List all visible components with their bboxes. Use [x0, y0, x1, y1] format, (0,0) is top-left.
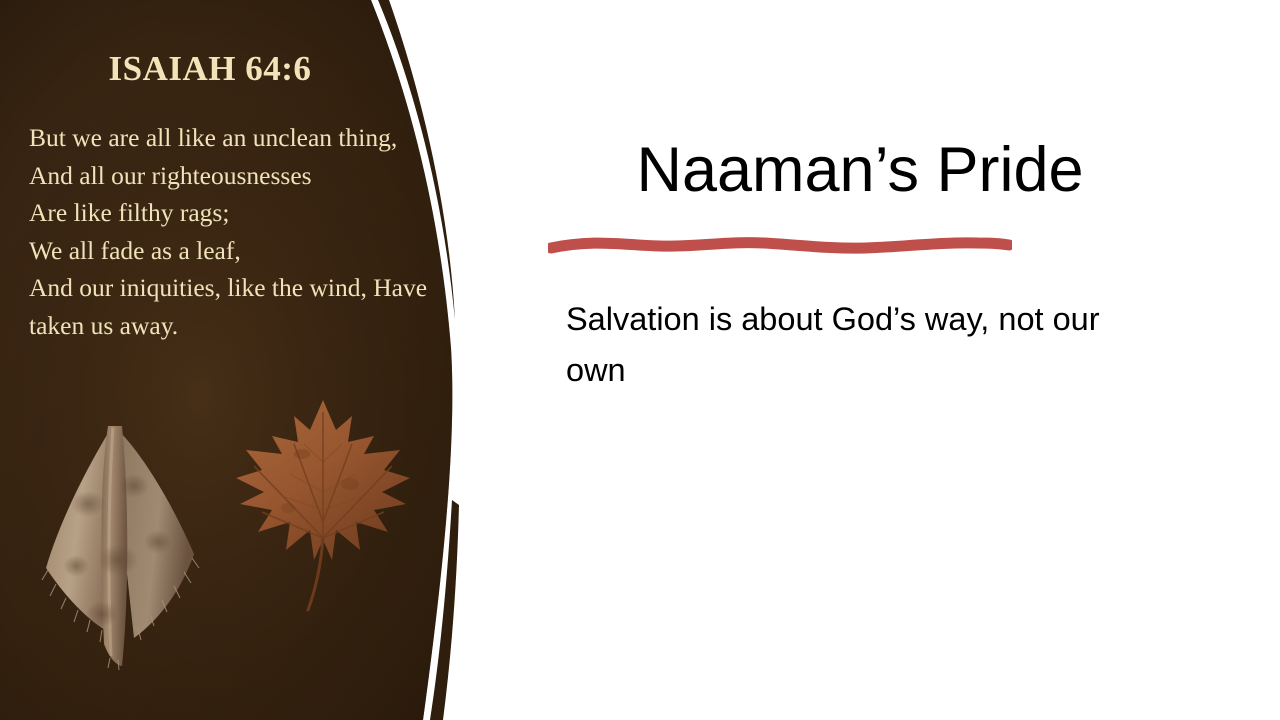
slide-subtitle: Salvation is about God’s way, not our ow…: [566, 294, 1156, 396]
left-panel-content: ISAIAH 64:6 But we are all like an uncle…: [0, 0, 440, 720]
scripture-text: But we are all like an unclean thing, An…: [29, 119, 434, 345]
presentation-slide: ISAIAH 64:6 But we are all like an uncle…: [0, 0, 1280, 720]
slide-title: Naaman’s Pride: [540, 134, 1180, 206]
scripture-reference: ISAIAH 64:6: [28, 50, 392, 89]
title-underline-icon: [548, 232, 1012, 260]
